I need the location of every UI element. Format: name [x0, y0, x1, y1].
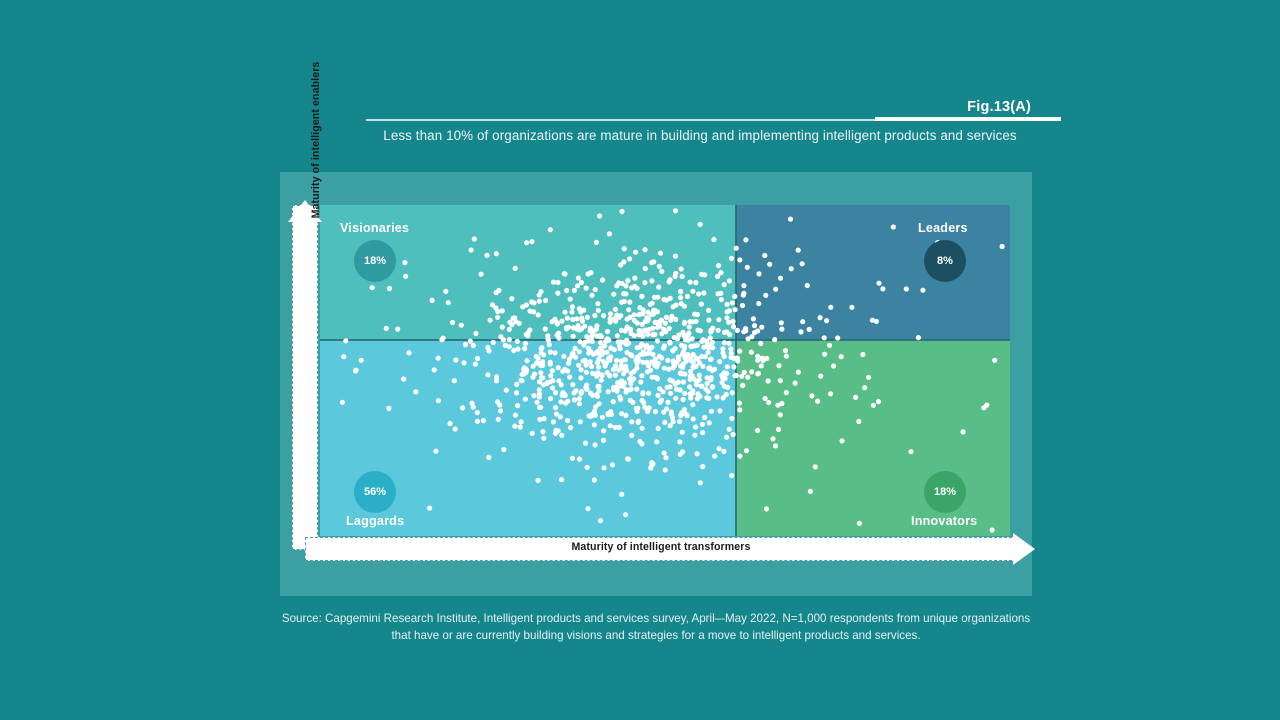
y-axis-label: Maturity of intelligent enablers	[310, 25, 322, 255]
source-note: Source: Capgemini Research Institute, In…	[280, 611, 1032, 645]
quadrant-label-visionaries: Visionaries	[340, 221, 409, 235]
quadrant-value-innovators: 18%	[924, 471, 966, 513]
figure-number: Fig.13(A)	[967, 99, 1031, 115]
quadrant-label-leaders: Leaders	[918, 221, 968, 235]
y-axis-bar	[292, 205, 318, 550]
quadrant-value-laggards: 56%	[354, 471, 396, 513]
header-rule-accent	[875, 117, 1061, 121]
x-axis-label: Maturity of intelligent transformers	[305, 541, 1017, 553]
figure-subtitle: Less than 10% of organizations are matur…	[330, 128, 1070, 143]
scatter-plot-area	[320, 205, 1010, 536]
scatter-points	[320, 205, 1010, 536]
quadrant-value-leaders: 8%	[924, 240, 966, 282]
figure-root: Fig.13(A) Less than 10% of organizations…	[0, 0, 1280, 720]
quadrant-value-visionaries: 18%	[354, 240, 396, 282]
quadrant-label-laggards: Laggards	[346, 514, 404, 528]
quadrant-label-innovators: Innovators	[911, 514, 977, 528]
